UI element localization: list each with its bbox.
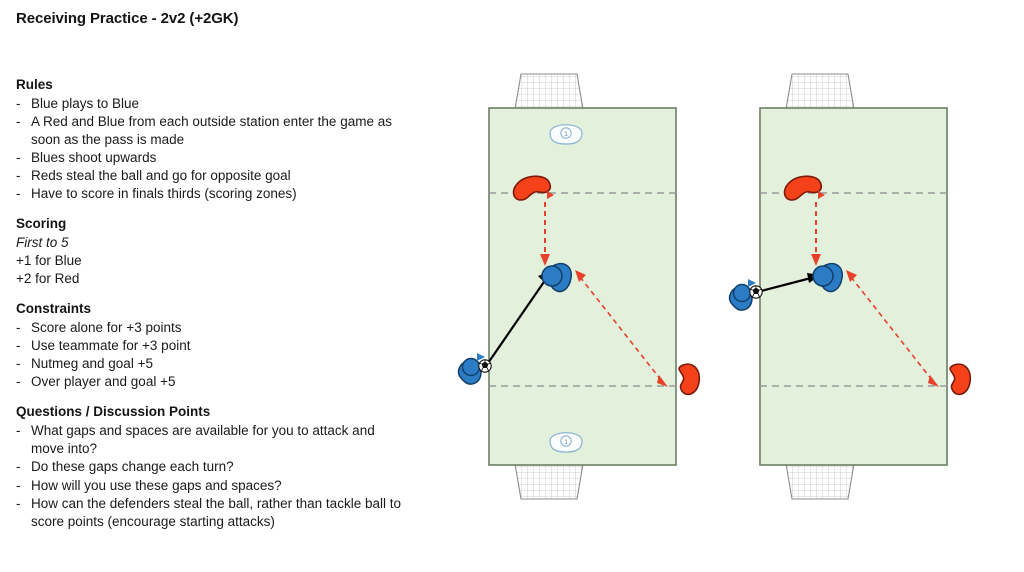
list-item-text: Blues shoot upwards [31, 149, 408, 167]
page-title: Receiving Practice - 2v2 (+2GK) [16, 10, 238, 27]
scoring-red: +2 for Red [16, 270, 408, 288]
pitch-surface [760, 108, 947, 465]
list-item-text: Over player and goal +5 [31, 373, 408, 391]
list-item: - Over player and goal +5 [16, 373, 408, 391]
soccer-ball [479, 360, 491, 372]
bullet-marker: - [16, 149, 31, 167]
bullet-marker: - [16, 373, 31, 391]
list-item: - How can the defenders steal the ball, … [16, 495, 408, 531]
list-item: - Do these gaps change each turn? [16, 458, 408, 476]
bullet-marker: - [16, 95, 31, 113]
list-item: - Score alone for +3 points [16, 319, 408, 337]
goalkeeper-bottom: 1 [550, 433, 582, 452]
red-player-station [679, 364, 699, 394]
list-item: - How will you use these gaps and spaces… [16, 477, 408, 495]
goalkeeper-number-top: 1 [564, 131, 568, 138]
list-item: - What gaps and spaces are available for… [16, 422, 408, 458]
bullet-marker: - [16, 319, 31, 337]
right-pitch [726, 70, 986, 490]
list-item-text: Do these gaps change each turn? [31, 458, 408, 476]
section-heading-questions: Questions / Discussion Points [16, 403, 408, 421]
list-item-text: How can the defenders steal the ball, ra… [31, 495, 408, 531]
bullet-marker: - [16, 458, 31, 476]
list-item-text: How will you use these gaps and spaces? [31, 477, 408, 495]
blue-player-station-with-ball [458, 353, 491, 384]
bullet-marker: - [16, 167, 31, 185]
list-item: - Have to score in finals thirds (scorin… [16, 185, 408, 203]
list-item-text: What gaps and spaces are available for y… [31, 422, 408, 458]
list-item: - A Red and Blue from each outside stati… [16, 113, 408, 149]
list-item-text: Blue plays to Blue [31, 95, 408, 113]
section-heading-constraints: Constraints [16, 300, 408, 318]
bullet-marker: - [16, 337, 31, 355]
list-item: - Nutmeg and goal +5 [16, 355, 408, 373]
goal-net-top [786, 74, 854, 109]
red-player-station [950, 364, 970, 394]
scoring-blue: +1 for Blue [16, 252, 408, 270]
pitch-surface [489, 108, 676, 465]
section-questions: Questions / Discussion Points - What gap… [16, 403, 408, 530]
list-item: - Use teammate for +3 point [16, 337, 408, 355]
goalkeeper-number-bottom: 1 [564, 439, 568, 446]
bullet-marker: - [16, 477, 31, 495]
goalkeeper-top: 1 [550, 125, 582, 144]
list-item-text: A Red and Blue from each outside station… [31, 113, 408, 149]
list-item: - Blues shoot upwards [16, 149, 408, 167]
left-pitch: 1 1 [455, 70, 715, 490]
bullet-marker: - [16, 185, 31, 203]
bullet-marker: - [16, 422, 31, 458]
soccer-ball [750, 286, 762, 298]
section-constraints: Constraints - Score alone for +3 points … [16, 300, 408, 391]
practice-notes: Rules - Blue plays to Blue - A Red and B… [16, 76, 408, 531]
list-item-text: Nutmeg and goal +5 [31, 355, 408, 373]
bullet-marker: - [16, 113, 31, 149]
bullet-marker: - [16, 495, 31, 531]
goal-net-top [515, 74, 583, 109]
list-item-text: Score alone for +3 points [31, 319, 408, 337]
section-heading-rules: Rules [16, 76, 408, 94]
bullet-marker: - [16, 355, 31, 373]
goal-net-bottom [515, 464, 583, 499]
list-item: - Blue plays to Blue [16, 95, 408, 113]
blue-player-station-with-ball [729, 279, 762, 310]
practice-diagrams: 1 1 [420, 70, 1020, 510]
list-item-text: Reds steal the ball and go for opposite … [31, 167, 408, 185]
section-rules: Rules - Blue plays to Blue - A Red and B… [16, 76, 408, 203]
list-item: - Reds steal the ball and go for opposit… [16, 167, 408, 185]
section-scoring: Scoring First to 5 +1 for Blue +2 for Re… [16, 215, 408, 288]
goal-net-bottom [786, 464, 854, 499]
scoring-target: First to 5 [16, 234, 408, 252]
list-item-text: Use teammate for +3 point [31, 337, 408, 355]
section-heading-scoring: Scoring [16, 215, 408, 233]
list-item-text: Have to score in finals thirds (scoring … [31, 185, 408, 203]
